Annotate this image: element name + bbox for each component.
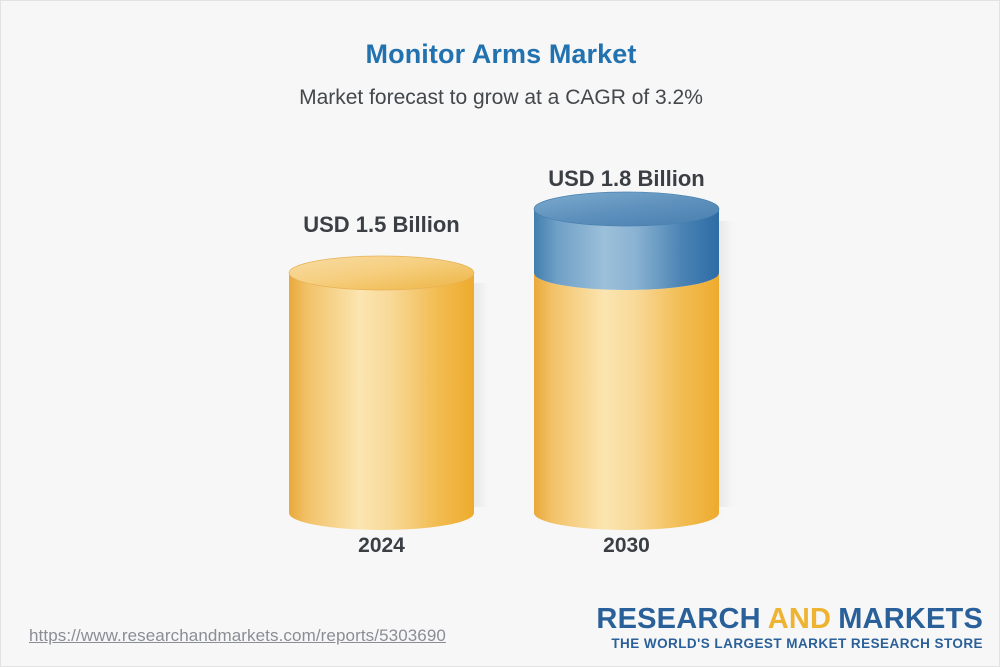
logo-wordmark: RESEARCHANDMARKETS bbox=[596, 603, 983, 635]
report-url-link[interactable]: https://www.researchandmarkets.com/repor… bbox=[29, 626, 446, 646]
logo-word-and: AND bbox=[768, 603, 831, 635]
logo-tagline: THE WORLD'S LARGEST MARKET RESEARCH STOR… bbox=[596, 636, 983, 652]
value-label-2030: USD 1.8 Billion bbox=[534, 166, 719, 192]
chart-canvas: Monitor Arms Market Market forecast to g… bbox=[0, 0, 1000, 667]
bar-2024-body bbox=[289, 273, 474, 530]
value-label-2024: USD 1.5 Billion bbox=[289, 212, 474, 238]
category-label-2024: 2024 bbox=[289, 534, 474, 558]
bar-2024[interactable] bbox=[285, 256, 489, 530]
research-and-markets-logo[interactable]: RESEARCHANDMARKETS THE WORLD'S LARGEST M… bbox=[596, 603, 983, 652]
logo-word-markets: MARKETS bbox=[838, 603, 983, 635]
bar-2030-segment-base bbox=[534, 273, 719, 530]
bar-2030[interactable] bbox=[530, 192, 734, 530]
bar-2024-top-cap bbox=[289, 256, 474, 290]
cylinder-bars-svg bbox=[1, 1, 1000, 601]
chart-footer: https://www.researchandmarkets.com/repor… bbox=[1, 594, 1000, 666]
logo-word-research: RESEARCH bbox=[596, 603, 760, 635]
chart-plot-area: USD 1.5 Billion USD 1.8 Billion 2024 203… bbox=[1, 1, 1000, 601]
category-label-2030: 2030 bbox=[534, 534, 719, 558]
bar-2030-top-cap bbox=[534, 192, 719, 226]
